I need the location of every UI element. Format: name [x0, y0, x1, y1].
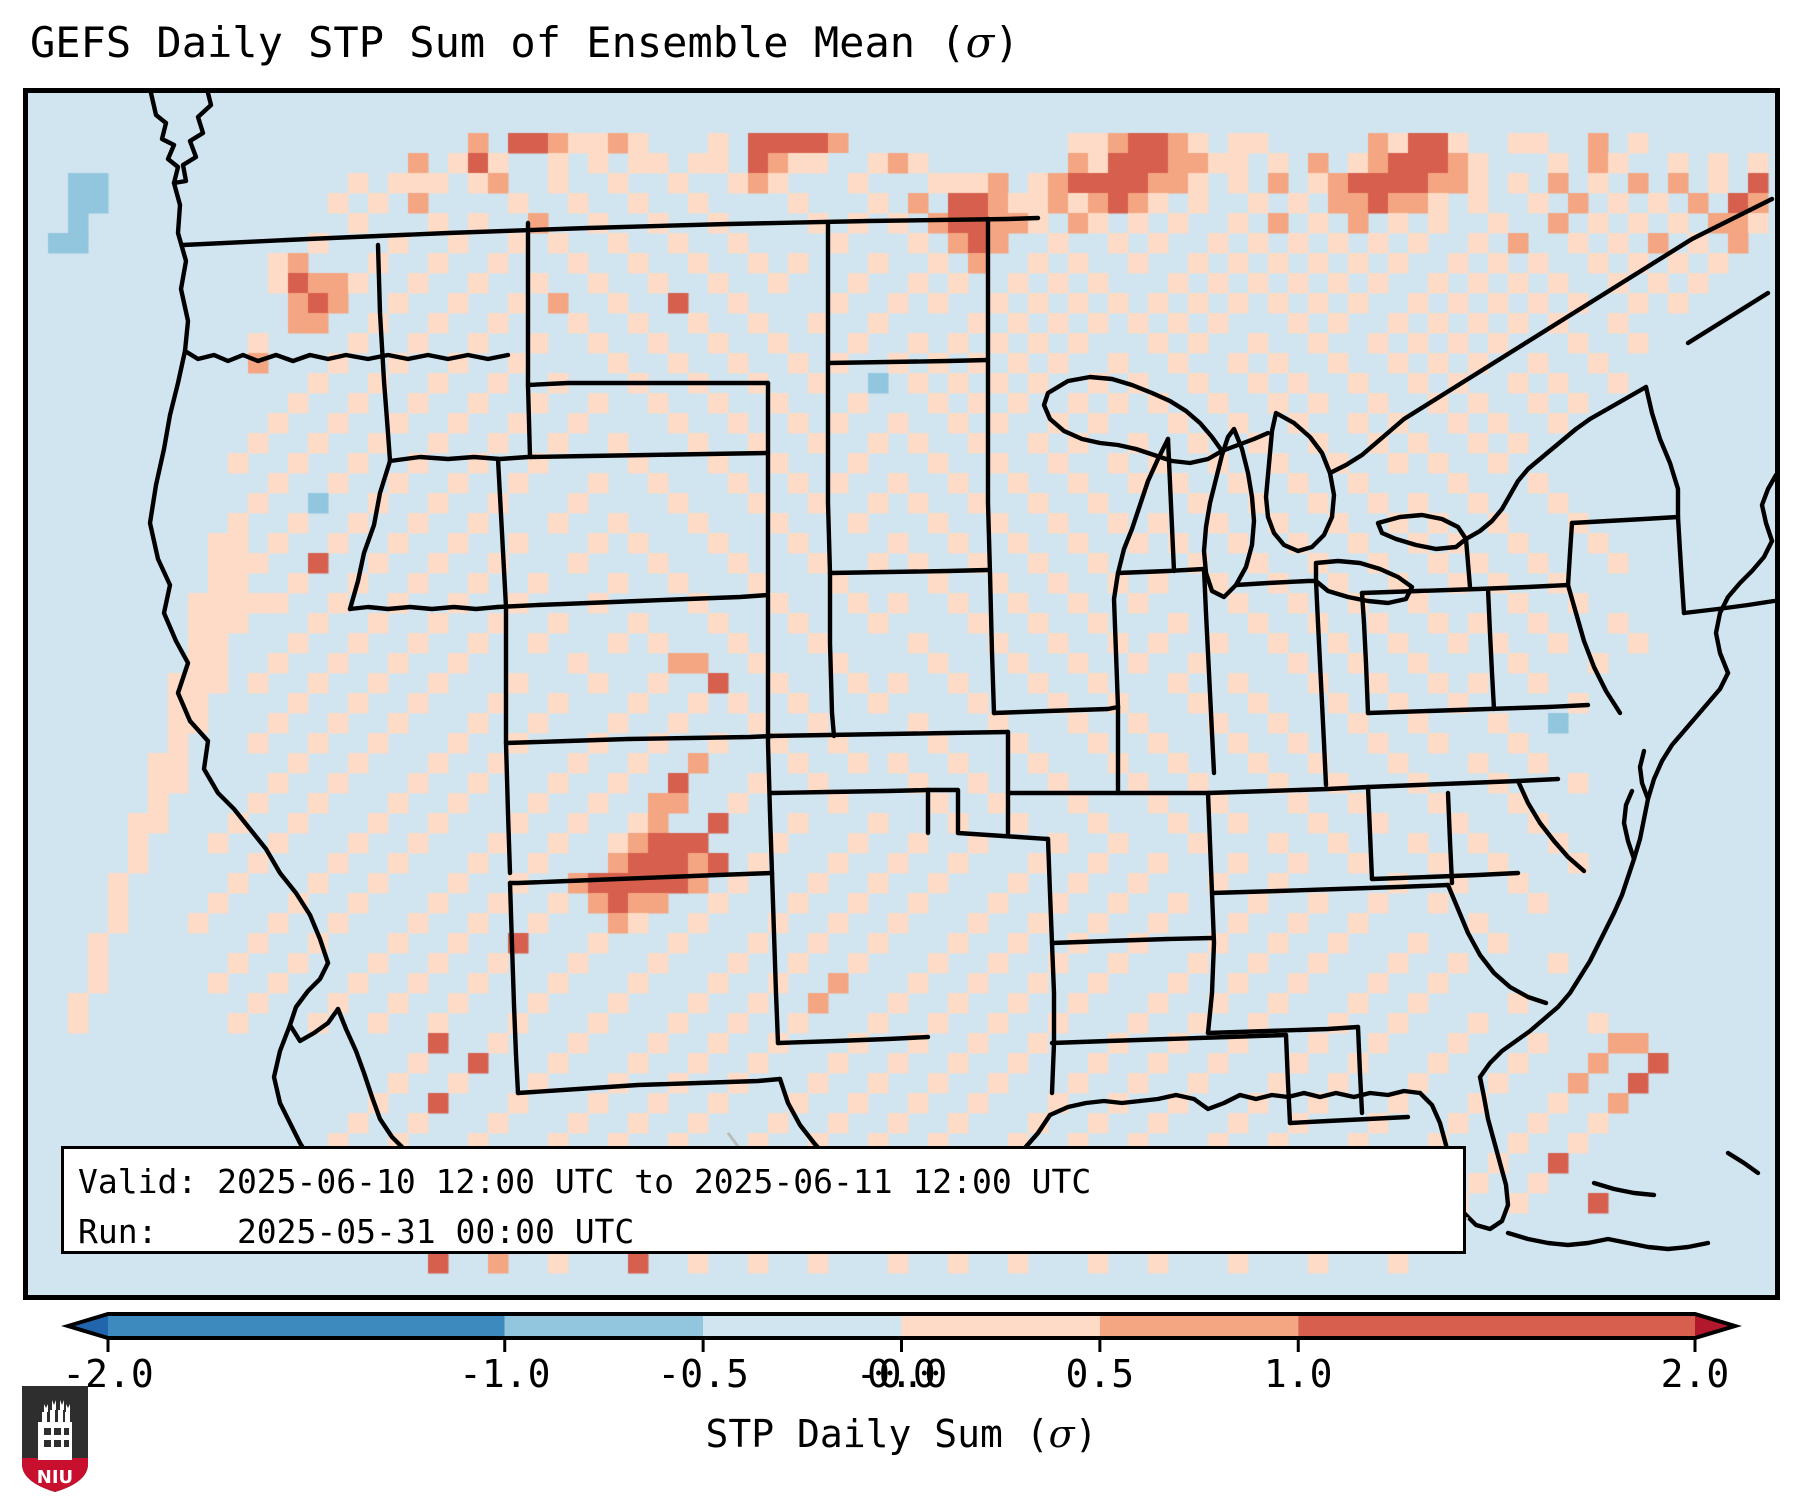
niu-logo: NIU: [18, 1382, 92, 1494]
colorbar-tick-label: 0.0: [867, 1352, 936, 1396]
colorbar-segment: [108, 1314, 505, 1338]
colorbar-segment: [1100, 1314, 1298, 1338]
title-text-before: GEFS Daily STP Sum of Ensemble Mean (: [30, 18, 966, 67]
colorbar-region: -2.0-1.0-0.5-0.00.00.51.02.0 STP Daily S…: [0, 1300, 1803, 1506]
run-time-line: Run: 2025-05-31 00:00 UTC: [78, 1207, 1449, 1257]
cb-sigma-symbol: σ: [1049, 1412, 1075, 1456]
colorbar-tick-label: 0.5: [1066, 1352, 1135, 1396]
colorbar-segment: [703, 1314, 901, 1338]
colorbar-tick-label: -1.0: [459, 1352, 551, 1396]
colorbar-tick-label: 2.0: [1661, 1352, 1730, 1396]
title-text-after: ): [994, 18, 1019, 67]
cb-label-after: ): [1075, 1412, 1098, 1456]
geography-outline-layer: [28, 93, 1775, 1295]
colorbar-tick-label: 1.0: [1264, 1352, 1333, 1396]
colorbar-segment: [902, 1314, 1100, 1338]
colorbar-tick-labels: -2.0-1.0-0.5-0.00.00.51.02.0: [0, 1352, 1803, 1412]
colorbar-tick-label: -0.5: [657, 1352, 749, 1396]
colorbar[interactable]: [0, 1300, 1803, 1360]
niu-logo-text: NIU: [37, 1467, 73, 1488]
map-frame: [23, 88, 1780, 1300]
map-canvas[interactable]: [28, 93, 1775, 1295]
sigma-symbol: σ: [966, 18, 995, 67]
colorbar-segment: [505, 1314, 703, 1338]
info-textbox: Valid: 2025-06-10 12:00 UTC to 2025-06-1…: [61, 1146, 1466, 1254]
colorbar-segments: [68, 1314, 1735, 1338]
cb-label-before: STP Daily Sum (: [705, 1412, 1048, 1456]
colorbar-ticks: [108, 1338, 1695, 1352]
colorbar-segment: [1298, 1314, 1695, 1338]
page-title: GEFS Daily STP Sum of Ensemble Mean (σ): [30, 18, 1020, 67]
valid-time-line: Valid: 2025-06-10 12:00 UTC to 2025-06-1…: [78, 1157, 1449, 1207]
colorbar-axis-label: STP Daily Sum (σ): [0, 1412, 1803, 1456]
